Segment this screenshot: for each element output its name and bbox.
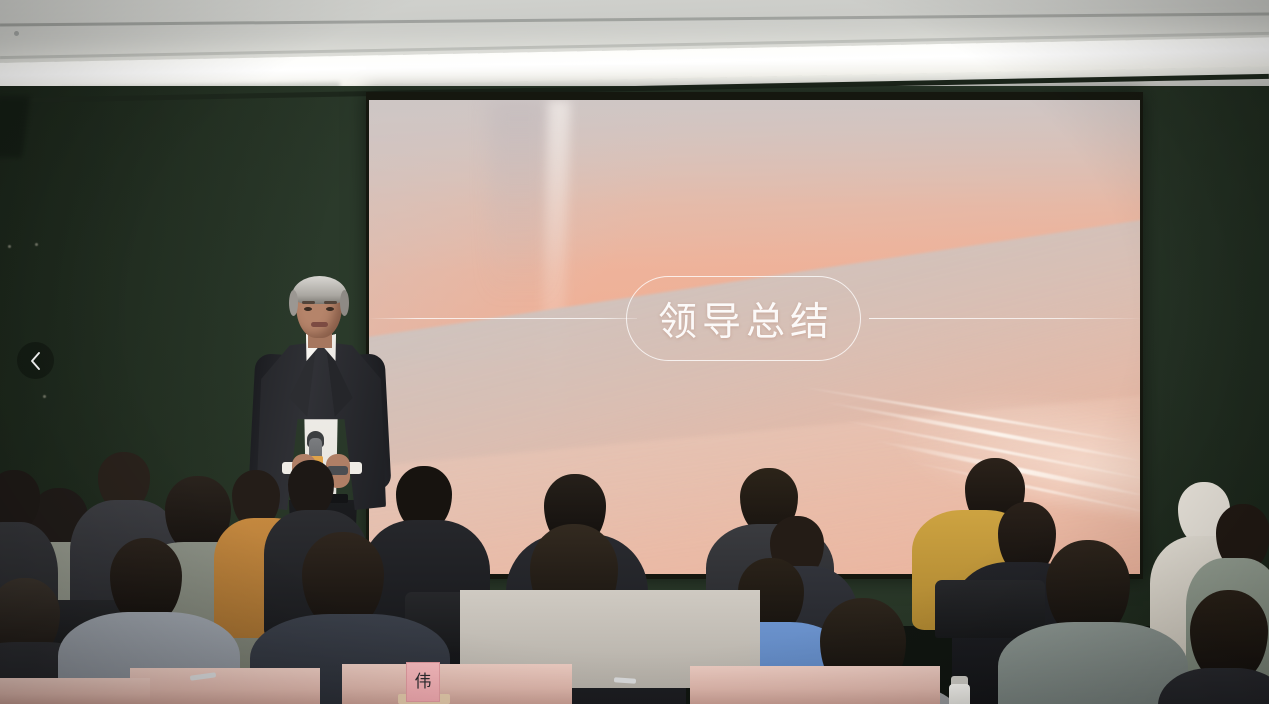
presenter-eye — [304, 307, 312, 311]
photo-viewer: 领导总结 — [0, 0, 1269, 704]
slide-title-pill: 领导总结 — [626, 276, 861, 361]
presenter-hair — [292, 276, 347, 304]
previous-image-button[interactable] — [17, 342, 54, 379]
wall-speck — [35, 243, 38, 246]
ceiling-seam — [0, 12, 1269, 26]
desk-front-edge — [0, 678, 150, 704]
presenter-mouth — [311, 322, 328, 327]
presenter-hair-side — [289, 290, 298, 316]
name-placard: 伟 — [406, 662, 440, 702]
chevron-left-icon — [29, 351, 42, 371]
chair-back — [935, 580, 1045, 638]
projector-streak — [489, 100, 549, 300]
presenter-eye — [326, 307, 334, 311]
desk-front-edge — [690, 666, 940, 704]
ceiling-fixture-dot — [14, 31, 19, 36]
slide-rule-left — [369, 318, 637, 319]
presenter-hair-side — [340, 290, 349, 316]
slide-rule-right — [869, 318, 1140, 319]
wall-speck — [8, 245, 11, 248]
water-bottle — [949, 684, 970, 704]
desk-front-edge — [130, 668, 320, 704]
desk-front-edge — [342, 664, 572, 704]
presenter-brow — [302, 301, 315, 304]
wall-speck — [43, 395, 46, 398]
audience: 伟 — [0, 430, 1269, 704]
presenter-brow — [324, 301, 337, 304]
slide-title: 领导总结 — [653, 291, 834, 347]
